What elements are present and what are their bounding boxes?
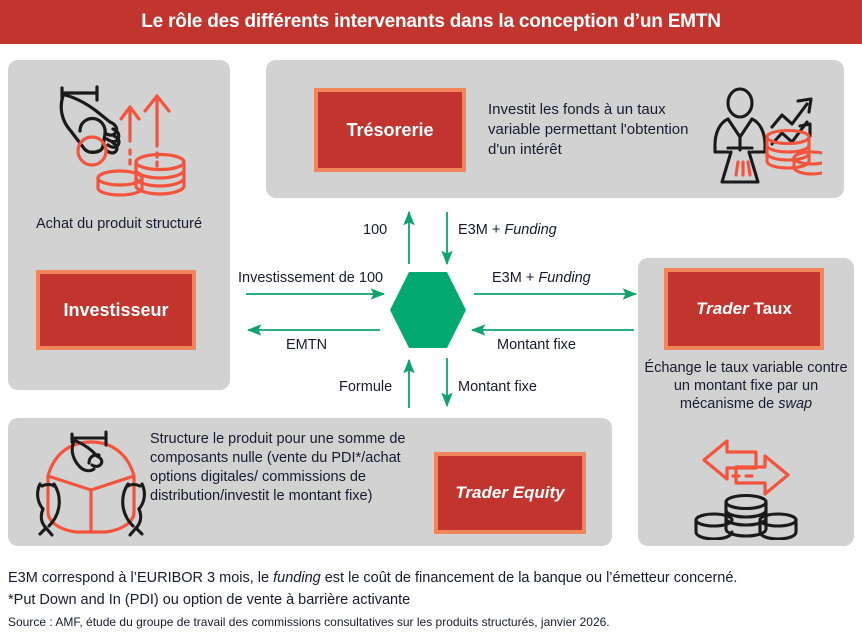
page-title-banner: Le rôle des différents intervenants dans… xyxy=(0,0,862,44)
role-box-trader-taux[interactable]: Trader Taux xyxy=(664,268,824,350)
caption-investor: Achat du produit structuré xyxy=(14,216,224,234)
flow-label-investment-in: Investissement de 100 xyxy=(238,270,383,286)
footnote-italic-funding: funding xyxy=(273,570,321,586)
flow-label-e3m-funding-right: E3M + Funding xyxy=(492,270,591,286)
flow-label-montant-fixe-in: Montant fixe xyxy=(497,337,576,353)
flow-label-e3m-funding-down: E3M + Funding xyxy=(458,222,557,238)
central-hexagon-node xyxy=(390,270,466,350)
trader-person-chart-coins-icon xyxy=(710,82,822,186)
page-title: Le rôle des différents intervenants dans… xyxy=(141,11,720,33)
role-box-trader-taux-italic: Trader xyxy=(696,299,749,318)
hands-building-structure-icon xyxy=(36,428,146,540)
flow-label-italic-funding: Funding xyxy=(504,222,556,238)
caption-trader-equity: Structure le produit pour une somme de c… xyxy=(150,430,426,505)
swap-arrows-coins-icon xyxy=(694,432,798,540)
footnote-source: Source : AMF, étude du groupe de travail… xyxy=(8,615,610,629)
role-box-trader-taux-regular: Taux xyxy=(753,299,791,318)
hand-holding-coin-growth-icon xyxy=(40,74,190,199)
role-box-trader-equity[interactable]: Trader Equity xyxy=(434,452,586,534)
flow-label-italic-funding-right: Funding xyxy=(538,270,590,286)
flow-label-emtn-out: EMTN xyxy=(286,337,327,353)
role-box-tresorerie[interactable]: Trésorerie xyxy=(314,88,466,172)
caption-trader-taux: Échange le taux variable contre un monta… xyxy=(642,360,850,414)
footnote-e3m-definition: E3M correspond à l’EURIBOR 3 mois, le fu… xyxy=(8,570,737,586)
role-box-trader-equity-label: Trader Equity xyxy=(455,483,564,503)
footnote-pdi-definition: *Put Down and In (PDI) ou option de vent… xyxy=(8,592,410,608)
role-box-tresorerie-label: Trésorerie xyxy=(346,120,433,141)
caption-treasury: Investit les fonds à un taux variable pe… xyxy=(488,100,700,160)
role-box-trader-taux-label: Trader Taux xyxy=(696,299,792,319)
role-box-investisseur-label: Investisseur xyxy=(63,300,168,321)
role-box-investisseur[interactable]: Investisseur xyxy=(36,270,196,350)
flow-label-montant-fixe-down: Montant fixe xyxy=(458,379,537,395)
caption-italic-swap: swap xyxy=(778,396,812,412)
flow-label-hundred-up: 100 xyxy=(363,222,387,238)
flow-label-formule-up: Formule xyxy=(339,379,392,395)
